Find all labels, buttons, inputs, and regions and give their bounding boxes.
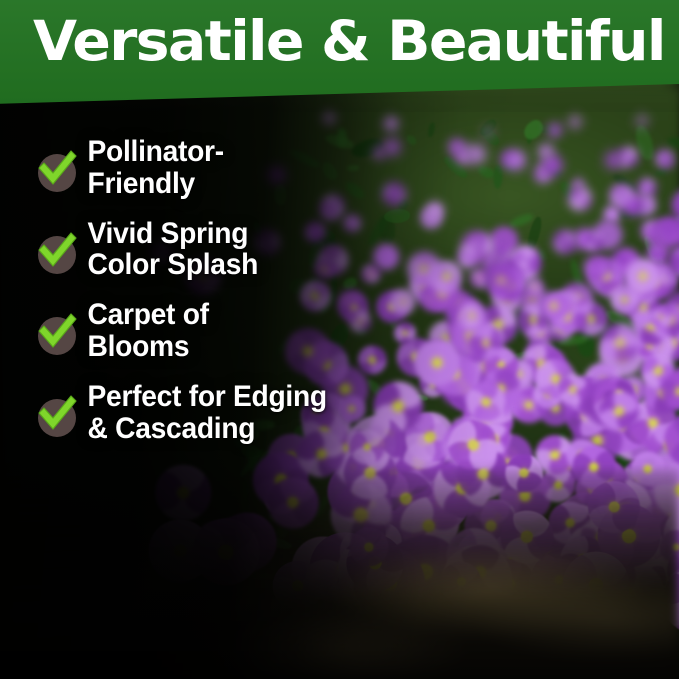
list-item-label: Perfect for Edging & Cascading — [80, 381, 327, 445]
check-mark-icon — [34, 146, 80, 192]
product-feature-image: Versatile & Beautiful Pollinator- Friend… — [0, 0, 679, 679]
header-banner: Versatile & Beautiful — [0, 0, 679, 112]
check-glyph — [34, 309, 80, 355]
check-glyph — [34, 391, 80, 437]
list-item: Carpet of Blooms — [34, 299, 454, 363]
page-title: Versatile & Beautiful — [33, 14, 665, 69]
list-item: Vivid Spring Color Splash — [34, 218, 454, 282]
flower-petals — [322, 110, 337, 125]
check-glyph — [34, 146, 80, 192]
list-item-label: Carpet of Blooms — [80, 299, 209, 363]
flower-bloom — [546, 122, 562, 138]
flower-bloom — [381, 114, 400, 133]
flower-petals — [567, 113, 584, 130]
list-item: Perfect for Edging & Cascading — [34, 381, 454, 445]
feature-list: Pollinator- Friendly Vivid Spring Color … — [34, 136, 454, 462]
check-mark-icon — [34, 391, 80, 437]
list-item-label: Pollinator- Friendly — [80, 136, 224, 200]
list-item-label: Vivid Spring Color Splash — [80, 218, 258, 282]
flower-petals — [546, 122, 562, 138]
check-mark-icon — [34, 228, 80, 274]
flower-bloom — [567, 113, 584, 130]
list-item: Pollinator- Friendly — [34, 136, 454, 200]
check-glyph — [34, 228, 80, 274]
flower-bloom — [322, 110, 337, 125]
foliage-leaf — [520, 118, 546, 143]
foliage-leaf — [654, 167, 668, 176]
check-mark-icon — [34, 309, 80, 355]
foliage-leaf — [492, 164, 504, 189]
rock-ledge-layer — [0, 469, 679, 679]
flower-petals — [381, 114, 400, 133]
